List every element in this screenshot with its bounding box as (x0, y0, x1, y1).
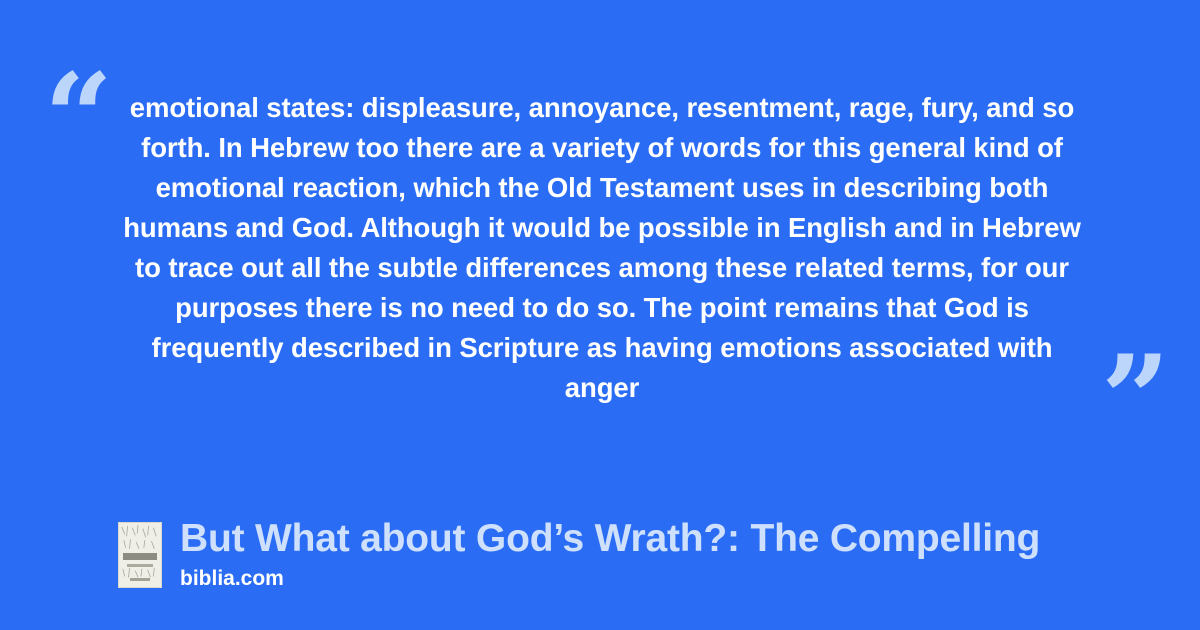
book-cover-title-bar (123, 553, 157, 560)
attribution-footer: But What about God’s Wrath?: The Compell… (118, 516, 1040, 594)
book-cover-subtitle-bar (127, 564, 153, 567)
quote-text: emotional states: displeasure, annoyance… (118, 88, 1086, 408)
quote-close-icon: ” (1101, 340, 1170, 460)
quote-card: “ emotional states: displeasure, annoyan… (0, 0, 1200, 630)
book-cover-thumbnail (118, 522, 162, 588)
quote-block: “ emotional states: displeasure, annoyan… (0, 40, 1200, 420)
book-cover-author-bar (130, 578, 150, 581)
attribution-text: But What about God’s Wrath?: The Compell… (180, 516, 1040, 594)
book-title: But What about God’s Wrath?: The Compell… (180, 516, 1040, 562)
site-name: biblia.com (180, 564, 1040, 594)
quote-open-icon: “ (44, 58, 113, 178)
